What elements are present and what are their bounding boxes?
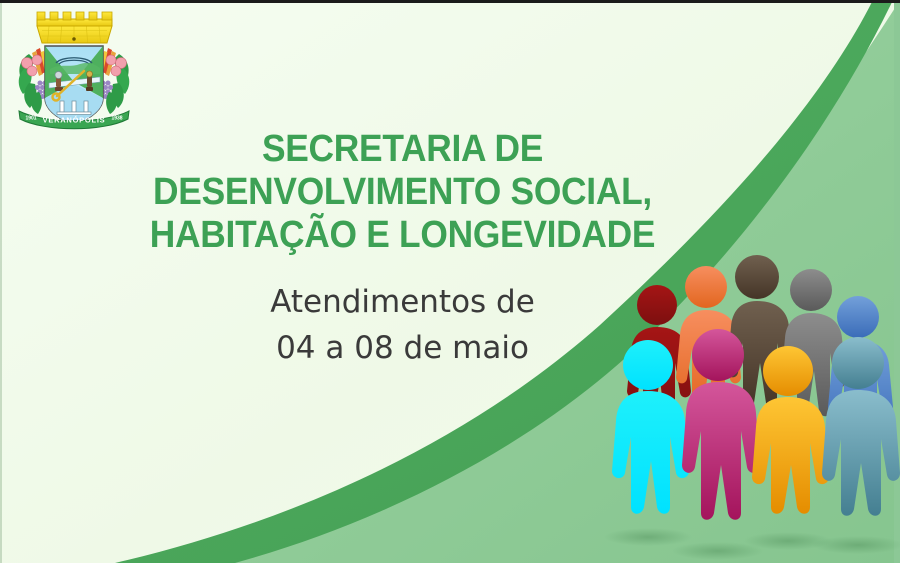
coat-of-arms-crest: VERANÓPOLIS 1901 1938 xyxy=(14,8,134,134)
shadow-ellipse xyxy=(604,528,692,546)
pillars-motif xyxy=(57,101,91,115)
shadow-ellipse xyxy=(812,536,900,554)
ribbon-right-date: 1938 xyxy=(111,116,122,122)
slide-canvas: VERANÓPOLIS 1901 1938 SECRETARIA DE DESE… xyxy=(0,0,900,563)
page-title: SECRETARIA DE DESENVOLVIMENTO SOCIAL, HA… xyxy=(140,128,665,257)
left-border-line xyxy=(0,0,2,563)
ribbon-left-date: 1901 xyxy=(25,116,36,122)
shield-emblem xyxy=(45,46,103,125)
top-border-line xyxy=(0,0,900,3)
people-group-illustration xyxy=(600,255,900,563)
industry-motif xyxy=(86,71,93,91)
ribbon-city-name: VERANÓPOLIS xyxy=(43,116,106,125)
mural-crown-icon xyxy=(37,12,112,43)
